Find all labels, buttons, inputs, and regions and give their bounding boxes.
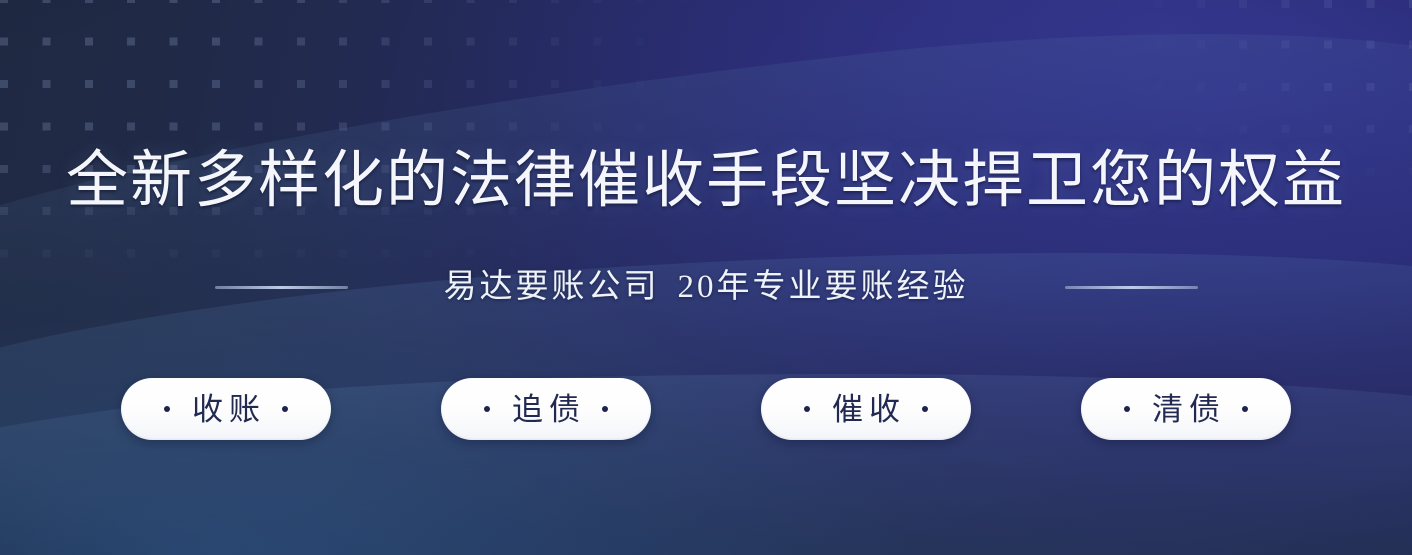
service-pill-label: 催收 (826, 394, 906, 425)
service-pill-row: 收账 追债 催收 清债 (0, 378, 1412, 440)
bullet-dot-icon (804, 406, 810, 412)
service-pill-qingzhai[interactable]: 清债 (1081, 378, 1291, 440)
divider-rule-left (215, 286, 348, 289)
service-pill-shouzhang[interactable]: 收账 (121, 378, 331, 440)
subtitle-company-name: 易达要账公司 (444, 269, 660, 305)
bullet-dot-icon (164, 406, 170, 412)
bullet-dot-icon (1124, 406, 1130, 412)
divider-rule-right (1065, 286, 1198, 289)
subtitle-row: 易达要账公司20年专业要账经验 (0, 268, 1412, 308)
service-pill-label: 追债 (506, 394, 586, 425)
banner-content: 全新多样化的法律催收手段坚决捍卫您的权益 易达要账公司20年专业要账经验 收账 … (0, 0, 1412, 555)
banner-subtitle: 易达要账公司20年专业要账经验 (444, 268, 969, 308)
bullet-dot-icon (484, 406, 490, 412)
subtitle-experience: 20年专业要账经验 (678, 269, 969, 305)
service-pill-label: 收账 (186, 394, 266, 425)
service-pill-zhuizhai[interactable]: 追债 (441, 378, 651, 440)
promo-banner: 全新多样化的法律催收手段坚决捍卫您的权益 易达要账公司20年专业要账经验 收账 … (0, 0, 1412, 555)
bullet-dot-icon (1242, 406, 1248, 412)
bullet-dot-icon (922, 406, 928, 412)
bullet-dot-icon (602, 406, 608, 412)
service-pill-cuishou[interactable]: 催收 (761, 378, 971, 440)
bullet-dot-icon (282, 406, 288, 412)
service-pill-label: 清债 (1146, 394, 1226, 425)
banner-headline: 全新多样化的法律催收手段坚决捍卫您的权益 (0, 150, 1412, 212)
